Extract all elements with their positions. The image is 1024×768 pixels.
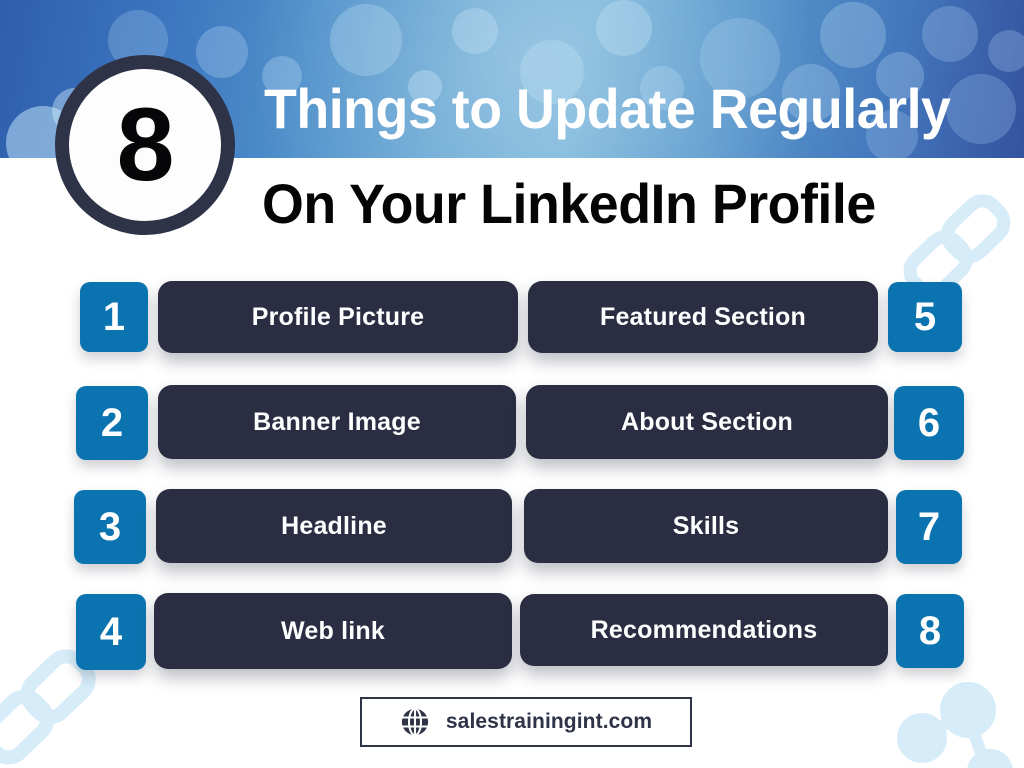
footer-url-text: salestrainingint.com <box>446 710 652 734</box>
item-number-8: 8 <box>919 611 941 651</box>
items-grid: 1 Profile Picture Featured Section 5 2 B… <box>0 278 1024 694</box>
bokeh-circle <box>820 2 886 68</box>
item-number-5: 5 <box>914 297 936 337</box>
item-label-8: Recommendations <box>591 616 818 645</box>
item-number-badge-2[interactable]: 2 <box>76 386 148 460</box>
bokeh-circle <box>330 4 402 76</box>
item-number-4: 4 <box>100 612 122 652</box>
item-number-2: 2 <box>101 403 123 443</box>
bokeh-circle <box>922 6 978 62</box>
bokeh-circle <box>196 26 248 78</box>
item-label-2: Banner Image <box>253 408 421 437</box>
page-title-line-1: Things to Update Regularly <box>264 79 936 138</box>
item-row: 2 Banner Image About Section 6 <box>0 382 1024 486</box>
bokeh-circle <box>946 74 1016 144</box>
bokeh-circle <box>452 8 498 54</box>
item-row: 1 Profile Picture Featured Section 5 <box>0 278 1024 382</box>
item-number-7: 7 <box>918 507 940 547</box>
item-label-7: Skills <box>673 512 740 541</box>
item-label-1: Profile Picture <box>252 303 425 332</box>
globe-icon <box>400 707 430 737</box>
item-number-badge-4[interactable]: 4 <box>76 594 146 670</box>
item-label-5: Featured Section <box>600 303 806 332</box>
item-number-badge-6[interactable]: 6 <box>894 386 964 460</box>
count-circle-badge: 8 <box>55 55 235 235</box>
item-number-1: 1 <box>103 297 125 337</box>
footer-url-box[interactable]: salestrainingint.com <box>360 697 692 747</box>
item-row: 4 Web link Recommendations 8 <box>0 590 1024 694</box>
item-number-badge-7[interactable]: 7 <box>896 490 962 564</box>
item-pill-1[interactable]: Profile Picture <box>158 281 518 353</box>
page-title-line-2: On Your LinkedIn Profile <box>262 174 992 233</box>
item-pill-2[interactable]: Banner Image <box>158 385 516 459</box>
item-pill-4[interactable]: Web link <box>154 593 512 669</box>
item-pill-8[interactable]: Recommendations <box>520 594 888 666</box>
item-pill-6[interactable]: About Section <box>526 385 888 459</box>
bokeh-circle <box>596 0 652 56</box>
item-number-badge-8[interactable]: 8 <box>896 594 964 668</box>
item-number-6: 6 <box>918 403 940 443</box>
item-number-3: 3 <box>99 507 121 547</box>
item-label-4: Web link <box>281 617 385 646</box>
item-pill-5[interactable]: Featured Section <box>528 281 878 353</box>
item-number-badge-3[interactable]: 3 <box>74 490 146 564</box>
item-row: 3 Headline Skills 7 <box>0 486 1024 590</box>
item-pill-3[interactable]: Headline <box>156 489 512 563</box>
count-circle-number: 8 <box>117 93 174 197</box>
item-number-badge-5[interactable]: 5 <box>888 282 962 352</box>
item-number-badge-1[interactable]: 1 <box>80 282 148 352</box>
item-pill-7[interactable]: Skills <box>524 489 888 563</box>
infographic-canvas: 8 Things to Update Regularly On Your Lin… <box>0 0 1024 768</box>
item-label-3: Headline <box>281 512 387 541</box>
bokeh-circle <box>988 30 1024 72</box>
item-label-6: About Section <box>621 408 793 437</box>
